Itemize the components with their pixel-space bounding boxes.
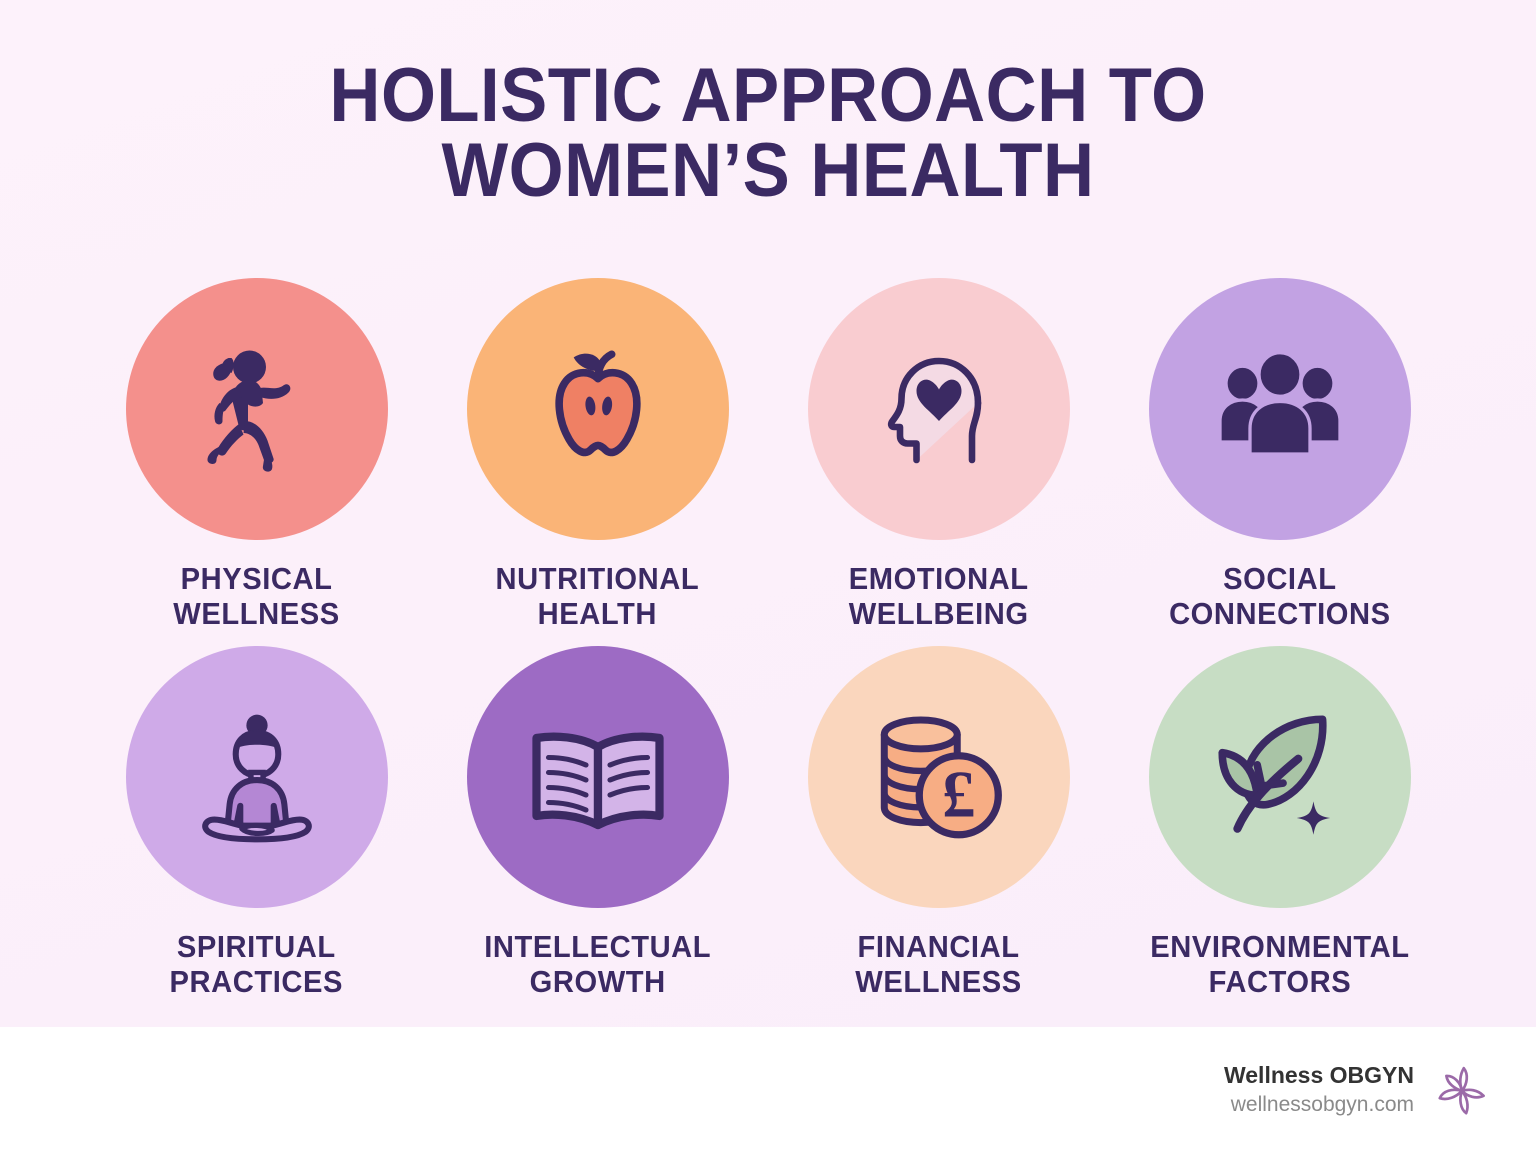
card-nutritional-health[interactable]: NUTRITIONAL HEALTH — [427, 278, 768, 646]
card-label-line-1: ENVIRONMENTAL — [1150, 929, 1409, 964]
meditation-lotus-icon — [181, 701, 333, 853]
card-label-intellectual-growth: INTELLECTUAL GROWTH — [484, 930, 711, 999]
card-label-line-1: NUTRITIONAL — [496, 561, 700, 596]
group-of-people-icon — [1205, 334, 1355, 484]
card-label-line-2: WELLNESS — [173, 597, 339, 632]
main-panel: HOLISTIC APPROACH TO WOMEN’S HEALTH — [0, 0, 1536, 1027]
card-label-line-2: HEALTH — [496, 597, 700, 632]
head-with-heart-icon — [864, 334, 1014, 484]
card-label-financial-wellness: FINANCIAL WELLNESS — [855, 930, 1021, 999]
apple-icon — [522, 333, 674, 485]
card-label-emotional-wellbeing: EMOTIONAL WELLBEING — [849, 562, 1029, 631]
leaf-sparkle-icon — [1204, 701, 1356, 853]
footer-bar: Wellness OBGYN wellnessobgyn.com — [0, 1027, 1536, 1154]
card-label-line-1: INTELLECTUAL — [484, 929, 711, 964]
coin-stack-pound-icon: £ — [863, 701, 1015, 853]
brand-url[interactable]: wellnessobgyn.com — [1224, 1091, 1414, 1119]
icon-circle-intellectual-growth — [467, 646, 729, 908]
card-label-environmental-factors: ENVIRONMENTAL FACTORS — [1150, 930, 1409, 999]
card-label-line-1: FINANCIAL — [857, 929, 1019, 964]
card-label-line-1: SOCIAL — [1223, 561, 1336, 596]
card-label-social-connections: SOCIAL CONNECTIONS — [1169, 562, 1391, 631]
card-label-line-1: EMOTIONAL — [849, 561, 1029, 596]
card-financial-wellness[interactable]: £ FINANCIAL WELLNESS — [768, 646, 1109, 1014]
card-label-nutritional-health: NUTRITIONAL HEALTH — [496, 562, 700, 631]
card-emotional-wellbeing[interactable]: EMOTIONAL WELLBEING — [768, 278, 1109, 646]
icon-circle-environmental-factors — [1149, 646, 1411, 908]
icon-circle-spiritual-practices — [126, 646, 388, 908]
card-intellectual-growth[interactable]: INTELLECTUAL GROWTH — [427, 646, 768, 1014]
brand-name: Wellness OBGYN — [1224, 1061, 1414, 1091]
card-label-line-2: GROWTH — [484, 965, 711, 1000]
page-title: HOLISTIC APPROACH TO WOMEN’S HEALTH — [54, 58, 1482, 208]
card-label-line-2: CONNECTIONS — [1169, 597, 1391, 632]
icon-circle-emotional-wellbeing — [808, 278, 1070, 540]
card-spiritual-practices[interactable]: SPIRITUAL PRACTICES — [86, 646, 427, 1014]
card-label-spiritual-practices: SPIRITUAL PRACTICES — [170, 930, 343, 999]
card-label-line-2: WELLBEING — [849, 597, 1029, 632]
card-label-line-2: FACTORS — [1150, 965, 1409, 1000]
flower-logo-icon — [1432, 1060, 1492, 1122]
card-physical-wellness[interactable]: PHYSICAL WELLNESS — [86, 278, 427, 646]
card-social-connections[interactable]: SOCIAL CONNECTIONS — [1109, 278, 1450, 646]
open-book-icon — [523, 702, 673, 852]
icon-circle-financial-wellness: £ — [808, 646, 1070, 908]
card-environmental-factors[interactable]: ENVIRONMENTAL FACTORS — [1109, 646, 1450, 1014]
running-woman-icon — [182, 334, 332, 484]
wellness-pillars-grid: PHYSICAL WELLNESS — [86, 278, 1450, 1014]
footer-text-block: Wellness OBGYN wellnessobgyn.com — [1224, 1061, 1414, 1119]
card-label-line-1: PHYSICAL — [181, 561, 333, 596]
icon-circle-nutritional-health — [467, 278, 729, 540]
card-label-physical-wellness: PHYSICAL WELLNESS — [173, 562, 339, 631]
icon-circle-social-connections — [1149, 278, 1411, 540]
card-label-line-1: SPIRITUAL — [177, 929, 336, 964]
infographic-poster: HOLISTIC APPROACH TO WOMEN’S HEALTH — [0, 0, 1536, 1154]
icon-circle-physical-wellness — [126, 278, 388, 540]
page-title-line-2: WOMEN’S HEALTH — [54, 133, 1482, 208]
page-title-line-1: HOLISTIC APPROACH TO — [54, 58, 1482, 133]
card-label-line-2: WELLNESS — [855, 965, 1021, 1000]
pound-symbol: £ — [942, 758, 975, 832]
card-label-line-2: PRACTICES — [170, 965, 343, 1000]
